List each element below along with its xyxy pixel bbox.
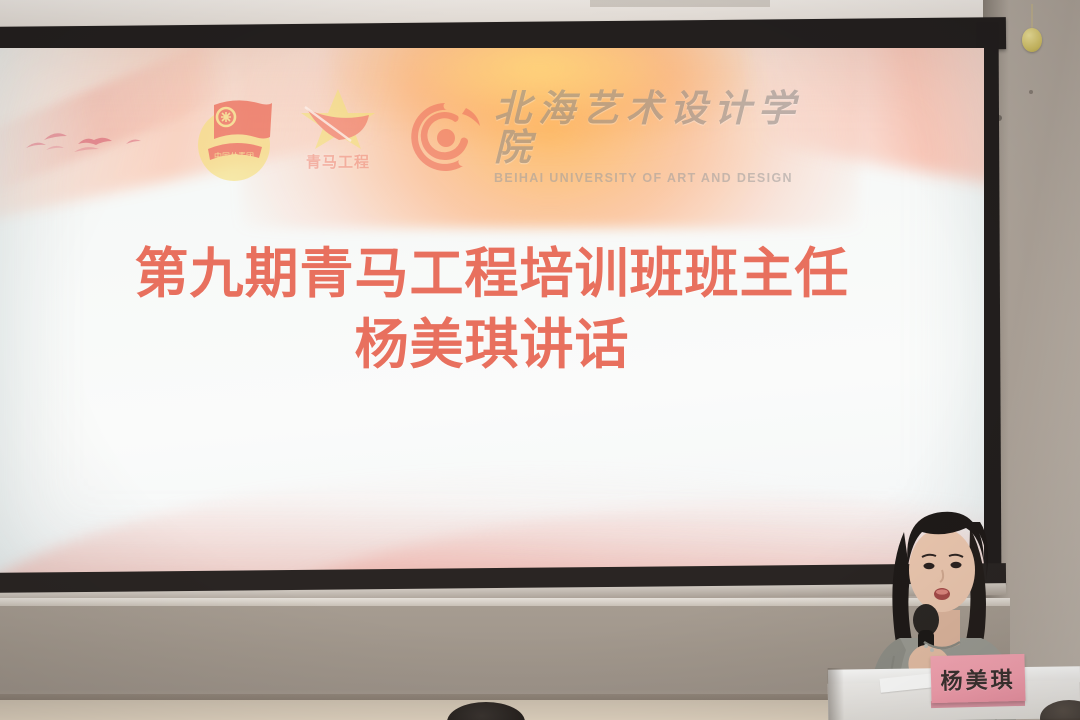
qingma-star-icon bbox=[295, 87, 381, 149]
ceiling-seam bbox=[590, 0, 770, 7]
qingma-project-logo: 青马工程 bbox=[292, 87, 384, 187]
slide-logo-row: 中国共青团 青马工程 bbox=[190, 72, 830, 202]
speaker-nameplate: 杨美琪 bbox=[930, 654, 1025, 703]
university-name-cn: 北海艺术设计学院 bbox=[494, 89, 830, 167]
wall-mark bbox=[1029, 90, 1033, 94]
slide-title: 第九期青马工程培训班班主任 杨美琪讲话 bbox=[0, 238, 984, 381]
flying-birds-icon bbox=[16, 110, 206, 170]
hanging-cord bbox=[1031, 4, 1033, 30]
nameplate-text: 杨美琪 bbox=[940, 662, 1016, 696]
university-swirl-icon bbox=[406, 98, 484, 176]
university-name-en: BEIHAI UNIVERSITY OF ART AND DESIGN bbox=[494, 171, 830, 185]
slide-title-line-2: 杨美琪讲话 bbox=[0, 309, 984, 380]
svg-text:中国共青团: 中国共青团 bbox=[214, 151, 254, 161]
podium-shadow bbox=[828, 668, 845, 720]
slide-title-line-1: 第九期青马工程培训班班主任 bbox=[0, 238, 984, 309]
qingma-label: 青马工程 bbox=[306, 151, 370, 172]
presentation-scene: 中国共青团 青马工程 bbox=[0, 0, 1080, 720]
university-logo-block: 北海艺术设计学院 BEIHAI UNIVERSITY OF ART AND DE… bbox=[406, 89, 830, 185]
communist-youth-league-emblem-icon: 中国共青团 bbox=[190, 89, 286, 185]
yellow-hanging-knob-icon bbox=[1022, 28, 1042, 52]
projected-slide: 中国共青团 青马工程 bbox=[0, 48, 984, 574]
